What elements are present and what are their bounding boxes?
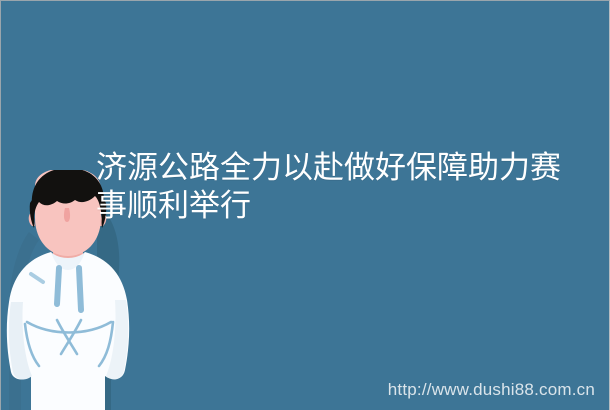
- article-thumbnail-banner: 济源公路全力以赴做好保障助力赛事顺利举行 http://www.dushi88.…: [0, 0, 610, 410]
- watermark-url: http://www.dushi88.com.cn: [388, 380, 595, 400]
- page-title: 济源公路全力以赴做好保障助力赛事顺利举行: [96, 149, 586, 225]
